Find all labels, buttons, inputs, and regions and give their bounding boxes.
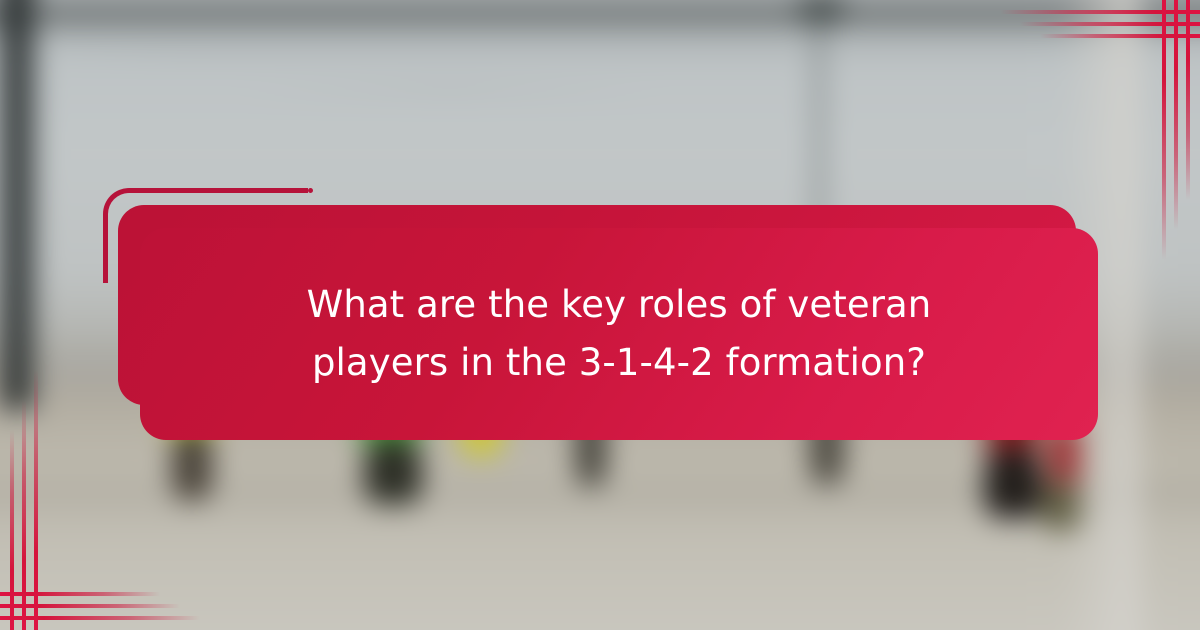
frame-line-horizontal [1000,10,1200,14]
share-card-canvas: What are the key roles of veteran player… [0,0,1200,630]
background-wire-secondary [240,88,660,91]
frame-line-horizontal [1020,22,1200,26]
frame-line-vertical [34,370,38,630]
frame-line-vertical [1162,0,1166,260]
background-figure [984,448,1042,518]
background-crossbar-lower [0,26,1200,40]
frame-line-horizontal [0,616,200,620]
frame-line-vertical [1186,0,1190,200]
background-wire [0,48,1200,51]
question-card-content: What are the key roles of veteran player… [140,228,1098,440]
frame-line-horizontal [0,592,160,596]
background-figure [364,438,422,504]
question-headline: What are the key roles of veteran player… [239,276,999,392]
frame-line-horizontal [1040,34,1200,38]
frame-line-vertical [10,430,14,630]
frame-line-horizontal [0,604,180,608]
